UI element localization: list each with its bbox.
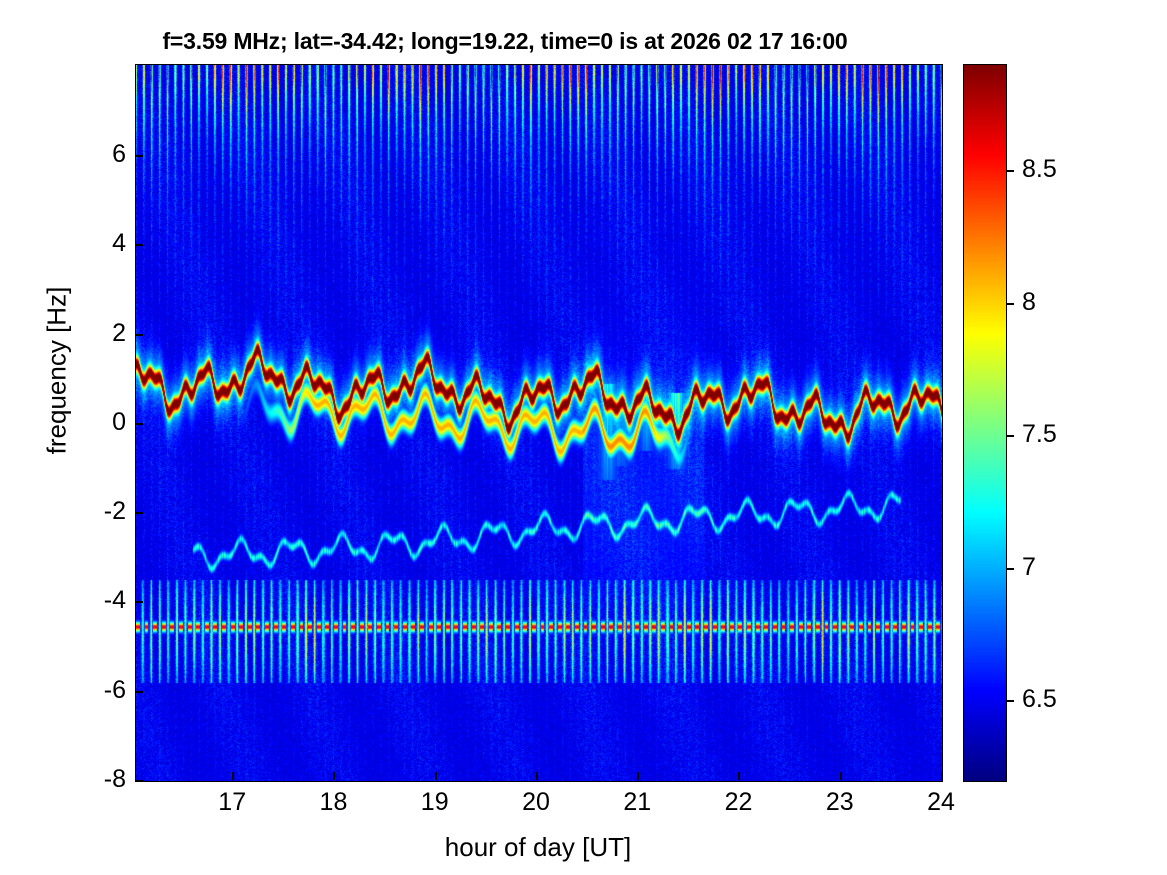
y-tick-mark: [135, 244, 143, 246]
colorbar-gradient: [964, 65, 1006, 781]
x-tick-label: 18: [303, 790, 363, 815]
y-tick-mark: [135, 780, 143, 782]
colorbar[interactable]: [963, 64, 1007, 782]
figure-root: f=3.59 MHz; lat=-34.42; long=19.22, time…: [0, 0, 1167, 875]
x-tick-mark: [840, 772, 842, 780]
x-tick-mark: [536, 772, 538, 780]
y-tick-mark: [135, 691, 143, 693]
y-tick-mark: [135, 512, 143, 514]
colorbar-tick-label: 8.5: [1022, 157, 1092, 182]
x-tick-mark: [435, 772, 437, 780]
colorbar-tick-label: 7: [1022, 555, 1092, 580]
x-tick-mark: [738, 772, 740, 780]
x-axis-label: hour of day [UT]: [135, 832, 941, 863]
x-tick-label: 19: [405, 790, 465, 815]
colorbar-tick-mark: [1006, 303, 1014, 305]
colorbar-tick-mark: [1006, 170, 1014, 172]
x-tick-label: 23: [810, 790, 870, 815]
colorbar-tick-label: 8: [1022, 290, 1092, 315]
y-tick-mark: [135, 601, 143, 603]
x-tick-label: 22: [708, 790, 768, 815]
x-tick-mark: [941, 772, 943, 780]
x-tick-label: 24: [911, 790, 971, 815]
y-axis-label: frequency [Hz]: [42, 251, 73, 491]
x-tick-label: 21: [607, 790, 667, 815]
colorbar-tick-mark: [1006, 435, 1014, 437]
y-tick-mark: [135, 423, 143, 425]
colorbar-tick-mark: [1006, 568, 1014, 570]
x-tick-label: 17: [202, 790, 262, 815]
y-tick-mark: [135, 155, 143, 157]
x-tick-label: 20: [506, 790, 566, 815]
y-tick-mark: [135, 334, 143, 336]
x-tick-mark: [333, 772, 335, 780]
colorbar-tick-label: 7.5: [1022, 422, 1092, 447]
x-tick-mark: [637, 772, 639, 780]
colorbar-tick-label: 6.5: [1022, 687, 1092, 712]
colorbar-tick-mark: [1006, 700, 1014, 702]
x-tick-mark: [232, 772, 234, 780]
